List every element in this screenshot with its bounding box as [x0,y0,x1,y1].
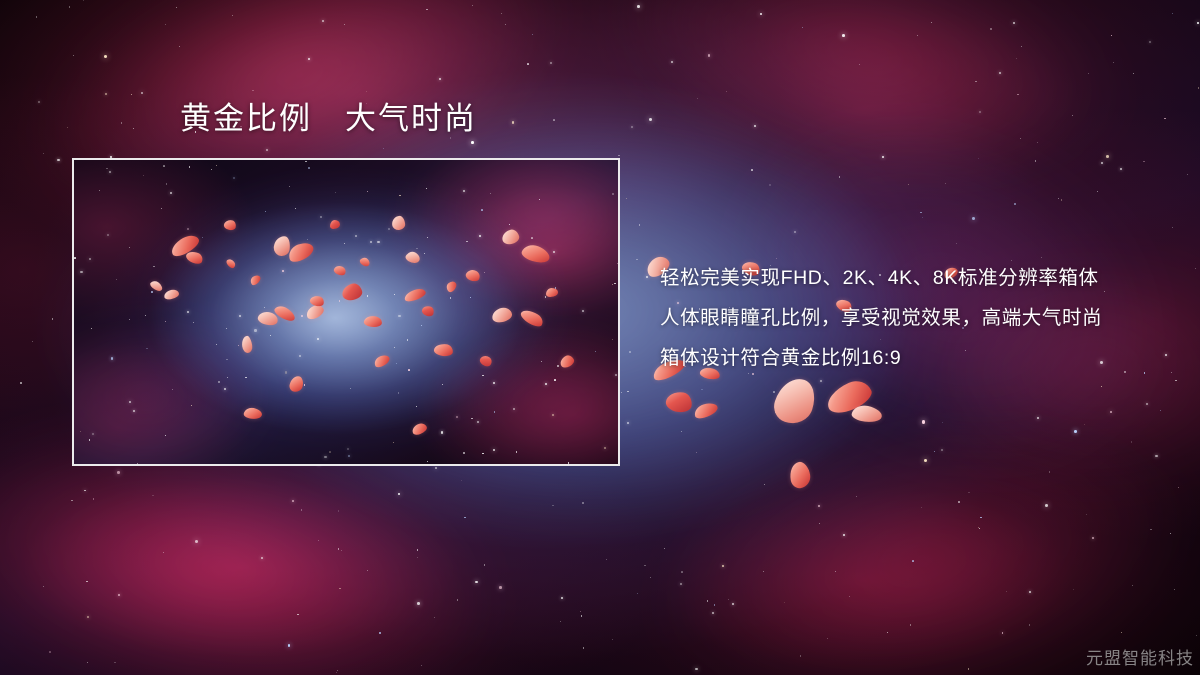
page-title: 黄金比例 大气时尚 [180,100,477,139]
body-copy-line-3: 箱体设计符合黄金比例16:9 [660,338,1160,378]
body-copy-line-2: 人体眼睛瞳孔比例，享受视觉效果，高端大气时尚 [660,298,1160,338]
body-copy: 轻松完美实现FHD、2K、4K、8K标准分辨率箱体 人体眼睛瞳孔比例，享受视觉效… [660,258,1160,378]
body-copy-line-1: 轻松完美实现FHD、2K、4K、8K标准分辨率箱体 [660,258,1160,298]
slide-canvas: 黄金比例 大气时尚 轻松完美实现FHD、2K、4K、8K标准分辨率箱体 人体眼睛… [0,0,1200,675]
watermark: 元盟智能科技 [1086,644,1194,669]
preview-panel[interactable] [72,158,620,466]
